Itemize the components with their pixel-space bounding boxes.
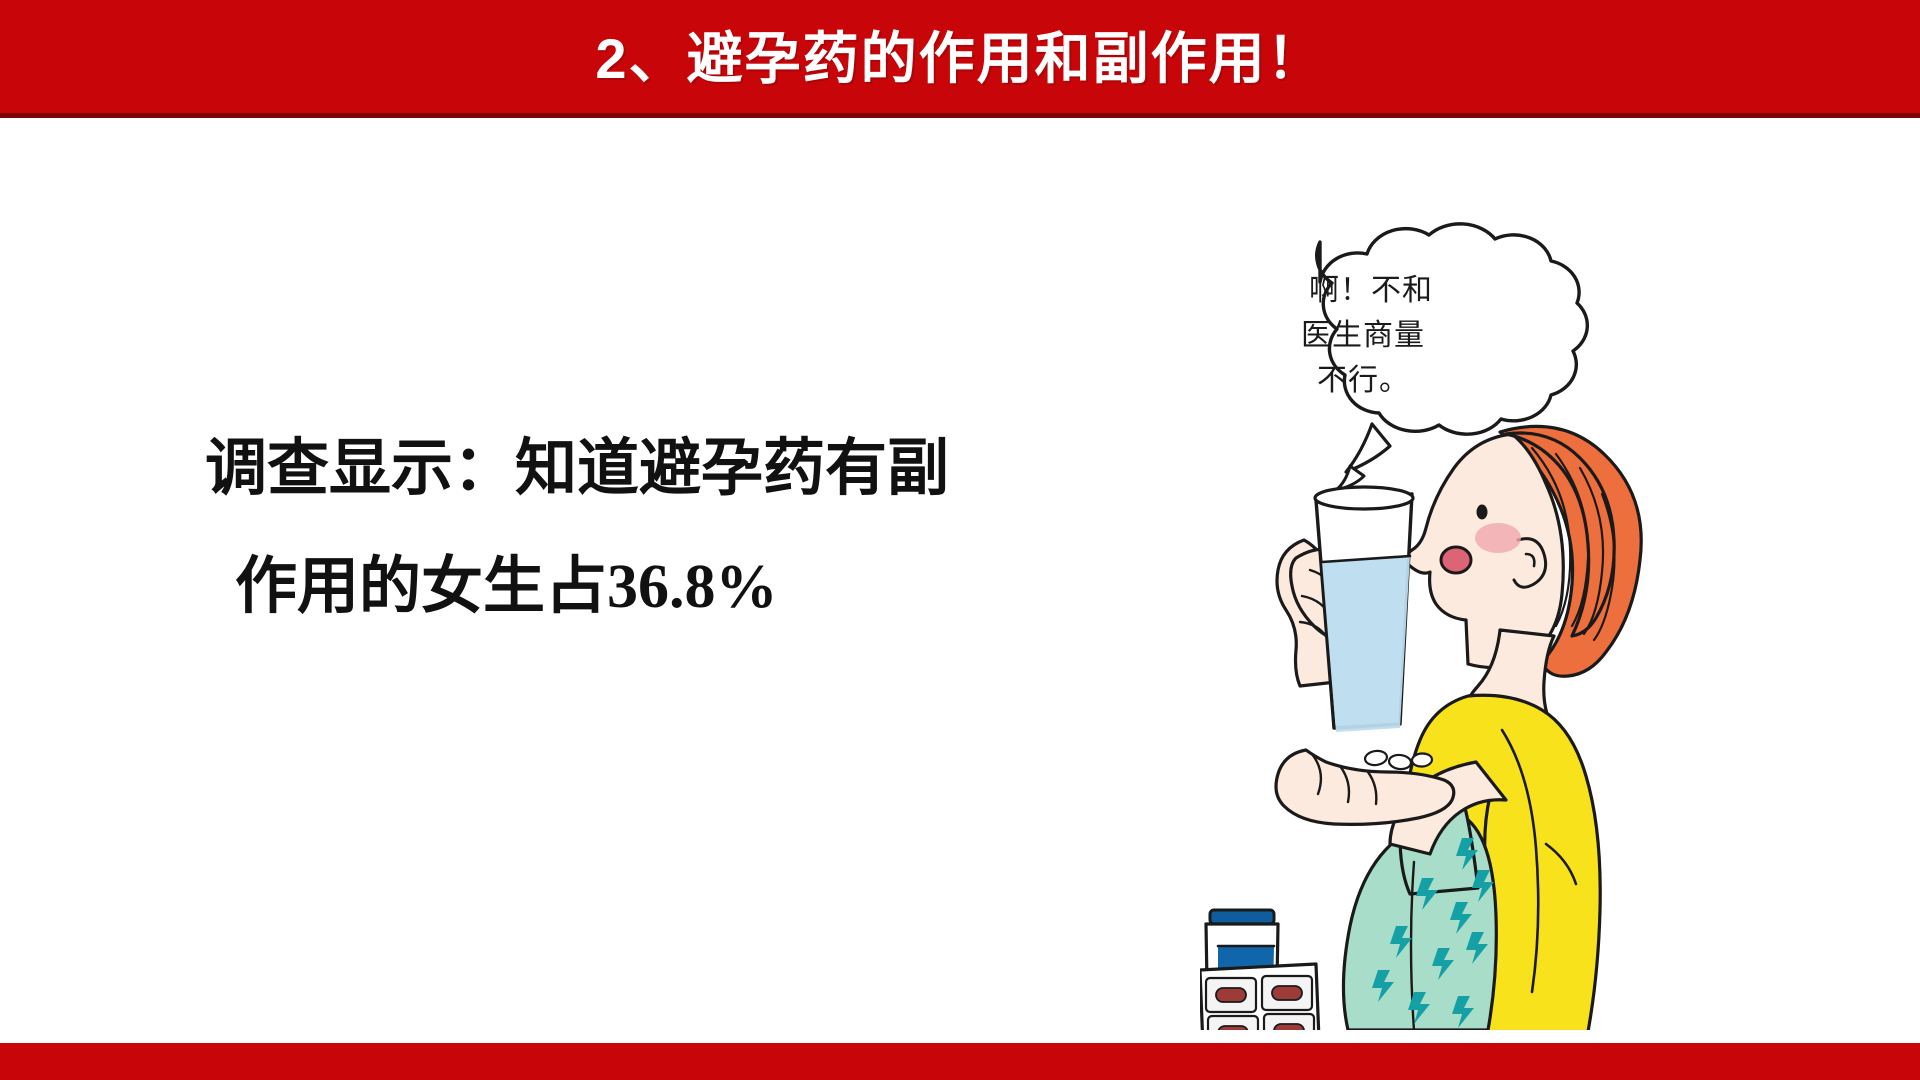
header-banner-edge (0, 113, 1920, 118)
cheek-blush (1475, 523, 1521, 553)
illustration-pregnant-woman (1200, 210, 1720, 1030)
woman-head (1405, 426, 1641, 734)
statistic-percent: 36.8% (607, 553, 778, 621)
illustration-svg (1200, 210, 1720, 1030)
pill-blister-pack-icon (1200, 964, 1322, 1030)
page-title: 2、避孕药的作用和副作用！ (595, 31, 1324, 87)
body-text-line-2: 作用的女生占36.8% (235, 556, 1105, 618)
glass-of-water-icon (1315, 487, 1413, 732)
body-text-line-1: 调查显示：知道避孕药有副 (205, 438, 1105, 500)
body-text-block: 调查显示：知道避孕药有副 作用的女生占36.8% (205, 438, 1105, 618)
slide-root: 2、避孕药的作用和副作用！ 调查显示：知道避孕药有副 作用的女生占36.8% (0, 0, 1920, 1080)
eye (1477, 505, 1488, 520)
header-banner: 2、避孕药的作用和副作用！ (0, 0, 1920, 113)
mouth (1441, 547, 1471, 573)
body-text-line-2-prefix: 作用的女生占 (235, 552, 607, 621)
footer-banner (0, 1043, 1920, 1080)
pills-in-hand (1364, 750, 1432, 771)
